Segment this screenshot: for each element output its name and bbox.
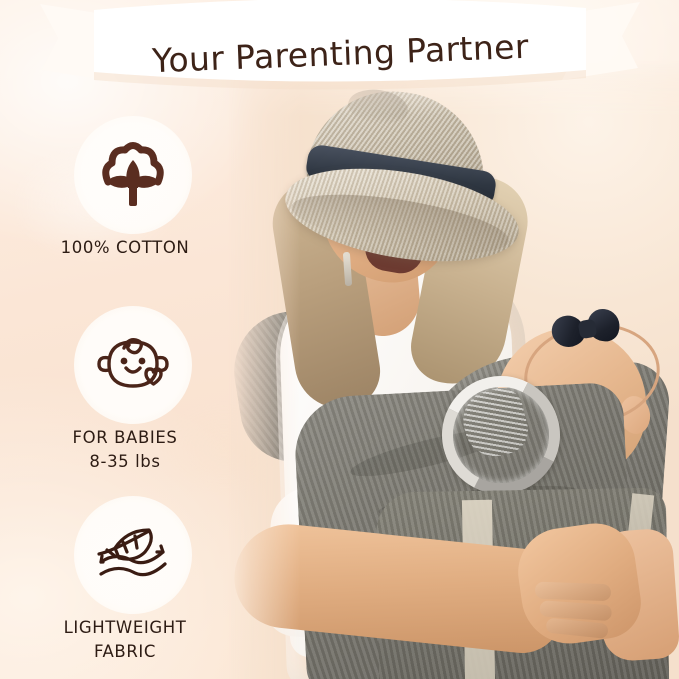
feature-label-line1: LIGHTWEIGHT (64, 618, 187, 637)
lifestyle-photo (228, 60, 679, 679)
feature-item-babies: FOR BABIES 8-35 lbs (0, 300, 250, 490)
feature-item-cotton: 100% COTTON (0, 110, 250, 300)
feature-list: 100% COTTON (0, 110, 250, 679)
finger (535, 582, 612, 602)
finger (546, 617, 609, 638)
product-feature-graphic: Your Parenting Partner (0, 0, 679, 679)
feature-label-lightweight: LIGHTWEIGHT FABRIC (0, 616, 250, 664)
cotton-boll-icon (96, 138, 170, 212)
feature-label-line2: FABRIC (0, 640, 250, 664)
headline-ribbon-banner: Your Parenting Partner (38, 0, 642, 106)
feature-badge-circle (74, 306, 192, 424)
feature-label-cotton: 100% COTTON (0, 236, 250, 260)
feature-label-line1: 100% COTTON (61, 238, 190, 257)
feature-badge-circle (74, 496, 192, 614)
feature-label-babies: FOR BABIES 8-35 lbs (0, 426, 250, 474)
feature-label-line2: 8-35 lbs (0, 450, 250, 474)
feather-fabric-icon (93, 522, 173, 588)
feature-badge-circle (74, 116, 192, 234)
feature-item-lightweight: LIGHTWEIGHT FABRIC (0, 490, 250, 679)
feature-label-line1: FOR BABIES (73, 428, 178, 447)
baby-face-icon (94, 330, 172, 400)
ribbon-shape (38, 0, 642, 106)
